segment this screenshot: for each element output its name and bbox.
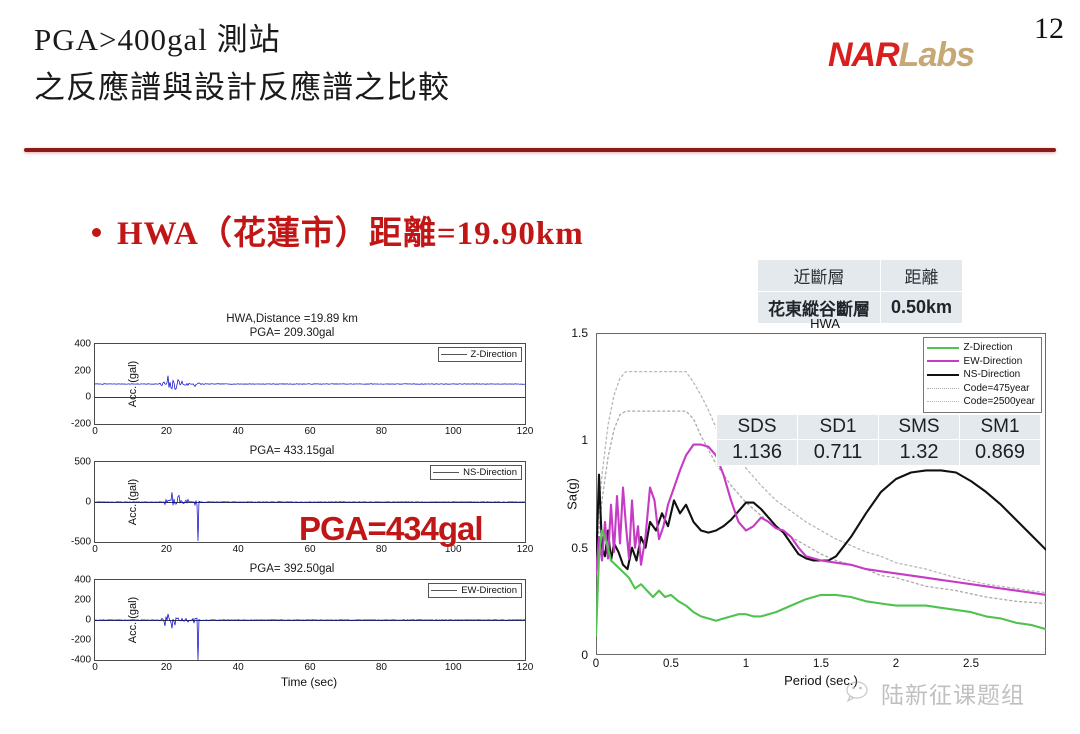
ytick: 200 (74, 365, 91, 376)
xtick: 1 (743, 658, 749, 670)
table-row: 近斷層 距離 (758, 260, 963, 292)
spectrum-legend: Z-DirectionEW-DirectionNS-DirectionCode=… (923, 337, 1042, 413)
xtick: 0 (92, 662, 98, 673)
legend-line-icon (927, 360, 959, 362)
header-divider (24, 148, 1056, 152)
xtick: 20 (161, 426, 172, 437)
slide: PGA>400gal 測站 之反應譜與設計反應譜之比較 NARLabs 12 H… (0, 0, 1080, 734)
legend-ew-direction: EW-Direction (428, 583, 522, 598)
ytick: 0 (85, 615, 91, 626)
ytick: -200 (71, 635, 91, 646)
sds-header: SDS (717, 415, 798, 440)
time-history-panel: HWA,Distance =19.89 km PGA= 209.30gal Ac… (42, 312, 542, 700)
title-line-1: PGA>400gal 測站 (34, 16, 794, 64)
ytick: -200 (71, 419, 91, 430)
watermark-text: 陆新征课题组 (881, 676, 1025, 710)
legend-line-icon (431, 590, 457, 591)
xtick: 120 (517, 662, 534, 673)
legend-label: Code=475year (964, 382, 1030, 396)
title-line-2: 之反應譜與設計反應譜之比較 (34, 64, 794, 112)
subplot-3-title: PGA= 392.50gal (42, 562, 542, 577)
xtick: 120 (517, 426, 534, 437)
subplot-2-title: PGA= 433.15gal (42, 444, 542, 459)
xtick: 120 (517, 544, 534, 555)
ytick: 400 (74, 339, 91, 350)
bullet-label: HWA（花蓮市）距離=19.90km (117, 206, 584, 254)
xtick: 100 (445, 426, 462, 437)
ytick: 0 (581, 648, 588, 662)
xtick: 2 (893, 658, 899, 670)
legend-label: EW-Direction (461, 585, 517, 596)
spectrum-plot: Sa(g) 0 0.5 1 1.5 0 0.5 1 1.5 2 2.5 Z-Di… (596, 333, 1046, 655)
xtick: 80 (376, 426, 387, 437)
ytick: 1 (581, 433, 588, 447)
legend-line-icon (927, 388, 959, 389)
design-parameters-table: SDS SD1 SMS SM1 1.136 0.711 1.32 0.869 (716, 414, 1041, 466)
sds-value: 1.136 (717, 440, 798, 466)
distance-header-cell: 距離 (881, 260, 963, 292)
xtick: 80 (376, 662, 387, 673)
page-title: PGA>400gal 測站 之反應譜與設計反應譜之比較 (34, 16, 794, 112)
wechat-icon (845, 680, 875, 706)
legend-label: NS-Direction (463, 467, 517, 478)
legend-ns-direction: NS-Direction (430, 465, 522, 480)
xtick: 0 (92, 544, 98, 555)
legend-label: NS-Direction (964, 368, 1021, 382)
xtick: 20 (161, 662, 172, 673)
response-spectrum-panel: HWA Sa(g) 0 0.5 1 1.5 0 0.5 1 1.5 2 2.5 … (560, 316, 1072, 706)
logo-labs-text: Labs (899, 36, 974, 74)
legend-item: Z-Direction (927, 341, 1035, 355)
sd1-header: SD1 (798, 415, 879, 440)
xtick: 0 (92, 426, 98, 437)
pga-callout: PGA=434gal (299, 510, 483, 548)
legend-label: Z-Direction (964, 341, 1013, 355)
legend-item: NS-Direction (927, 368, 1035, 382)
legend-line-icon (927, 374, 959, 376)
ytick: 0 (85, 497, 91, 508)
ytick: -400 (71, 655, 91, 666)
sd1-value: 0.711 (798, 440, 879, 466)
ytick: -500 (71, 537, 91, 548)
legend-label: Code=2500year (964, 395, 1035, 409)
fault-header-cell: 近斷層 (758, 260, 881, 292)
subplot-ew-direction: Acc. (gal) 400 200 0 -200 -400 EW-Direct… (94, 579, 526, 661)
legend-line-icon (927, 401, 959, 402)
xtick: 0 (593, 658, 599, 670)
xtick: 40 (233, 426, 244, 437)
time-history-title: HWA,Distance =19.89 km (42, 312, 542, 326)
legend-line-icon (927, 347, 959, 349)
fault-distance-table: 近斷層 距離 花東縱谷斷層 0.50km (757, 259, 963, 324)
xtick: 0.5 (663, 658, 679, 670)
legend-item: Code=2500year (927, 395, 1035, 409)
sms-value: 1.32 (879, 440, 960, 466)
narlabs-logo: NARLabs (828, 36, 974, 75)
spectrum-ylabel: Sa(g) (564, 478, 579, 510)
xtick: 60 (304, 426, 315, 437)
legend-label: Z-Direction (471, 349, 517, 360)
bullet-dot-icon (92, 228, 101, 237)
ytick: 200 (74, 595, 91, 606)
xtick: 60 (304, 662, 315, 673)
xtick: 40 (233, 544, 244, 555)
ytick: 0.5 (571, 541, 588, 555)
legend-item: EW-Direction (927, 355, 1035, 369)
spectrum-title: HWA (578, 316, 1072, 331)
legend-line-icon (441, 354, 467, 355)
legend-label: EW-Direction (964, 355, 1023, 369)
ytick: 1.5 (571, 326, 588, 340)
legend-z-direction: Z-Direction (438, 347, 522, 362)
sms-header: SMS (879, 415, 960, 440)
page-number: 12 (1034, 12, 1064, 46)
ytick: 0 (85, 392, 91, 403)
table-row: SDS SD1 SMS SM1 (717, 415, 1041, 440)
xtick: 40 (233, 662, 244, 673)
xtick: 2.5 (963, 658, 979, 670)
xtick: 1.5 (813, 658, 829, 670)
xtick: 20 (161, 544, 172, 555)
time-axis-label: Time (sec) (94, 675, 524, 689)
sm1-value: 0.869 (960, 440, 1041, 466)
subplot-z-direction: Acc. (gal) 400 200 0 -200 Z-Direction 0 … (94, 343, 526, 425)
watermark: 陆新征课题组 (845, 676, 1025, 710)
ytick: 500 (74, 457, 91, 468)
table-row: 1.136 0.711 1.32 0.869 (717, 440, 1041, 466)
ytick: 400 (74, 575, 91, 586)
legend-line-icon (433, 472, 459, 473)
legend-item: Code=475year (927, 382, 1035, 396)
subplot-1-title: PGA= 209.30gal (42, 326, 542, 341)
logo-nar-text: NAR (828, 36, 899, 74)
sm1-header: SM1 (960, 415, 1041, 440)
xtick: 100 (445, 662, 462, 673)
bullet-item: HWA（花蓮市）距離=19.90km (92, 206, 584, 254)
